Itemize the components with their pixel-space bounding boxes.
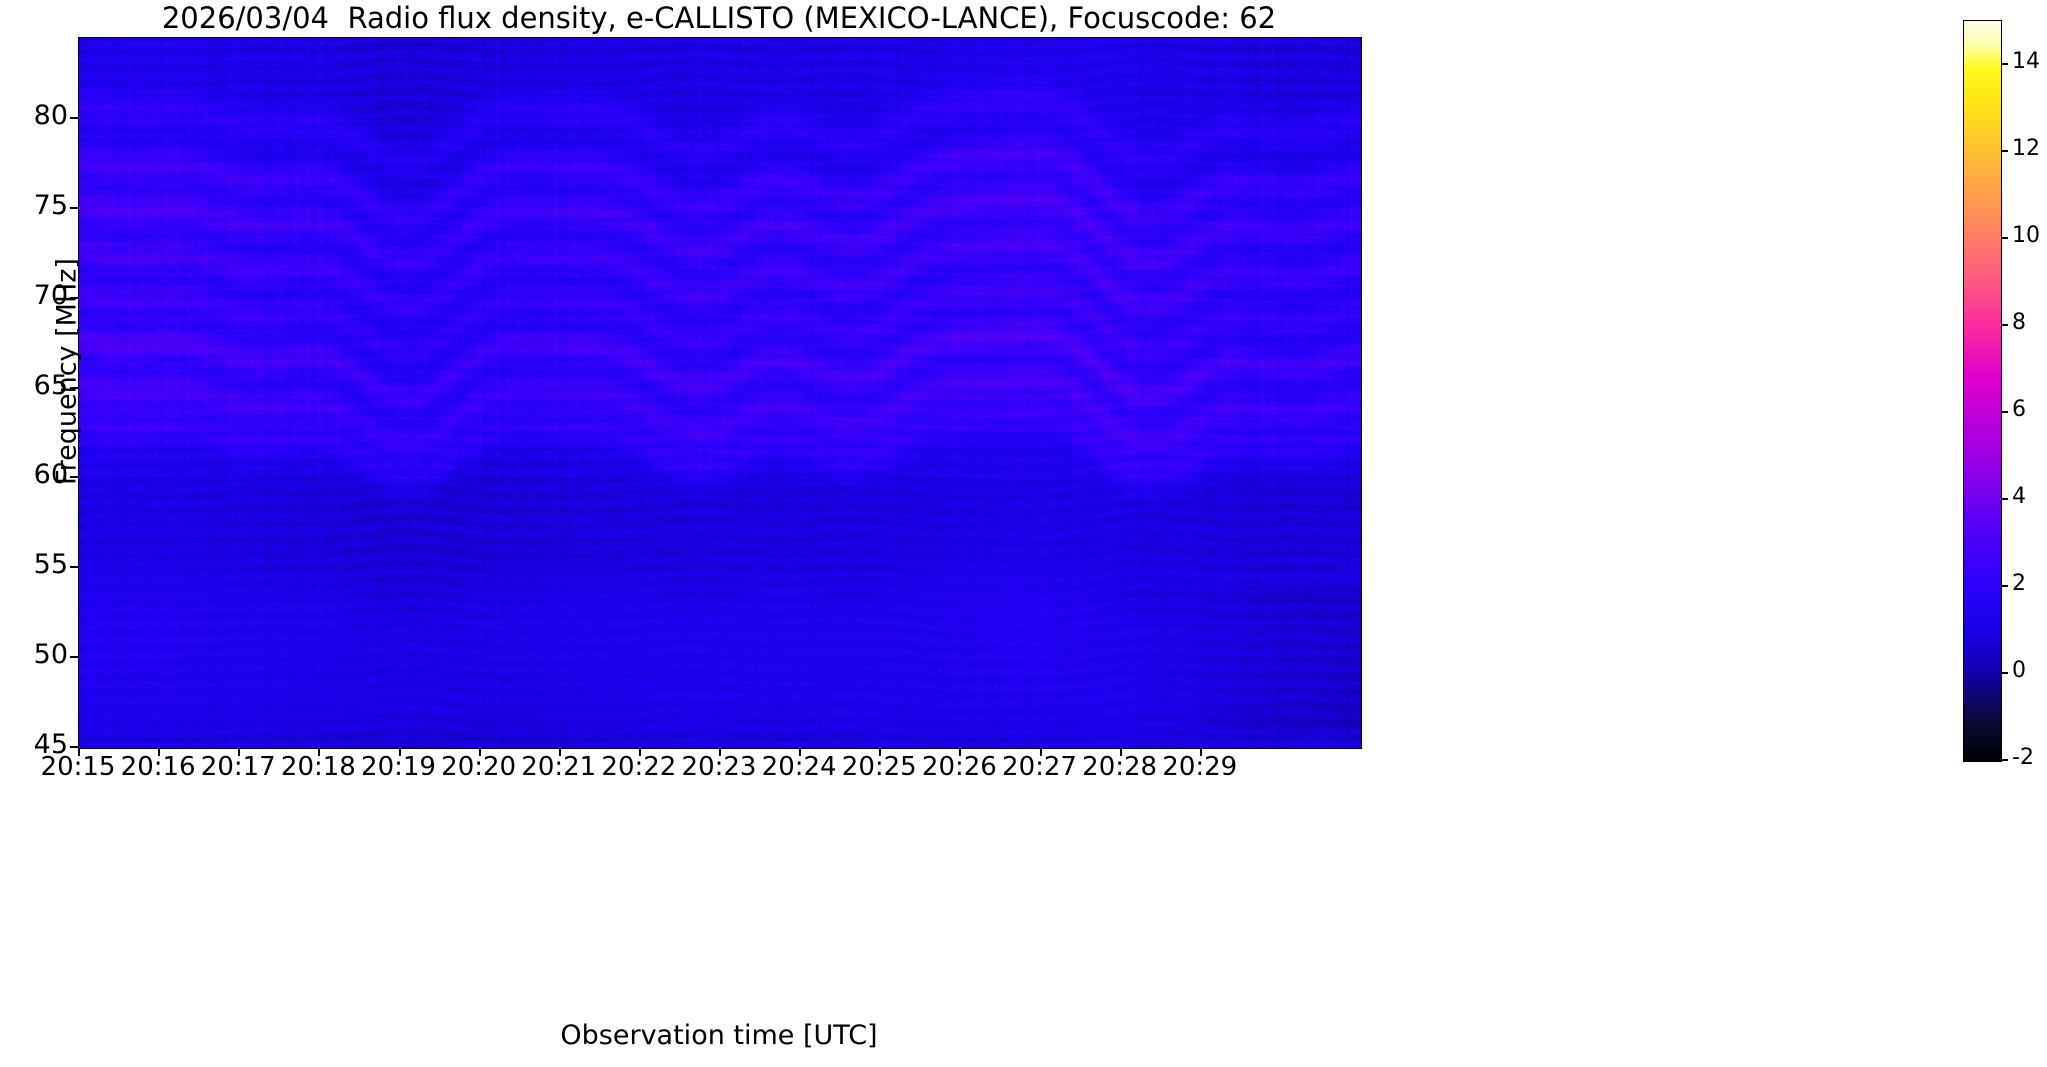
x-tick-mark — [238, 748, 240, 756]
x-tick-mark — [1200, 748, 1202, 756]
x-tick-mark — [479, 748, 481, 756]
x-tick-mark — [879, 748, 881, 756]
y-tick-label: 70 — [0, 280, 68, 311]
y-tick-label: 50 — [0, 639, 68, 670]
colorbar-tick-label: 12 — [2012, 136, 2047, 161]
x-tick-mark — [318, 748, 320, 756]
x-tick-mark — [1120, 748, 1122, 756]
y-tick-mark — [70, 117, 78, 119]
colorbar-gradient — [1963, 20, 2002, 762]
colorbar-tick-mark — [2001, 759, 2008, 761]
y-tick-label: 60 — [0, 459, 68, 490]
colorbar-tick-mark — [2001, 411, 2008, 413]
y-tick-label: 75 — [0, 190, 68, 221]
y-tick-mark — [70, 387, 78, 389]
colorbar-tick-mark — [2001, 585, 2008, 587]
x-tick-mark — [158, 748, 160, 756]
figure-canvas: 2026/03/04 Radio flux density, e-CALLIST… — [0, 0, 2047, 1067]
x-axis-label: Observation time [UTC] — [78, 1020, 1360, 1051]
colorbar-tick-mark — [2001, 150, 2008, 152]
x-tick-label: 20:29 — [1135, 752, 1265, 782]
colorbar-tick-label: 0 — [2012, 658, 2047, 683]
y-tick-label: 55 — [0, 549, 68, 580]
colorbar-tick-label: 2 — [2012, 571, 2047, 596]
x-tick-mark — [959, 748, 961, 756]
x-tick-mark — [78, 748, 80, 756]
colorbar-tick-mark — [2001, 672, 2008, 674]
y-tick-label: 80 — [0, 100, 68, 131]
page-title: 2026/03/04 Radio flux density, e-CALLIST… — [78, 2, 1360, 34]
y-tick-mark — [70, 207, 78, 209]
spectrogram-heatmap — [79, 38, 1361, 748]
x-tick-mark — [639, 748, 641, 756]
y-tick-label: 65 — [0, 370, 68, 401]
colorbar-tick-label: 14 — [2012, 49, 2047, 74]
x-tick-mark — [1040, 748, 1042, 756]
colorbar-tick-mark — [2001, 63, 2008, 65]
colorbar-tick-label: 8 — [2012, 310, 2047, 335]
x-tick-mark — [799, 748, 801, 756]
colorbar-tick-mark — [2001, 237, 2008, 239]
y-tick-mark — [70, 746, 78, 748]
spectrogram-axes — [78, 37, 1362, 749]
x-tick-mark — [719, 748, 721, 756]
y-tick-mark — [70, 297, 78, 299]
colorbar-tick-label: 4 — [2012, 484, 2047, 509]
y-tick-mark — [70, 566, 78, 568]
colorbar-tick-mark — [2001, 324, 2008, 326]
x-tick-mark — [559, 748, 561, 756]
colorbar-tick-label: 6 — [2012, 397, 2047, 422]
y-tick-mark — [70, 476, 78, 478]
x-tick-mark — [399, 748, 401, 756]
colorbar-tick-label: 10 — [2012, 223, 2047, 248]
y-tick-mark — [70, 656, 78, 658]
colorbar-tick-label: -2 — [2012, 745, 2047, 770]
colorbar-tick-mark — [2001, 498, 2008, 500]
